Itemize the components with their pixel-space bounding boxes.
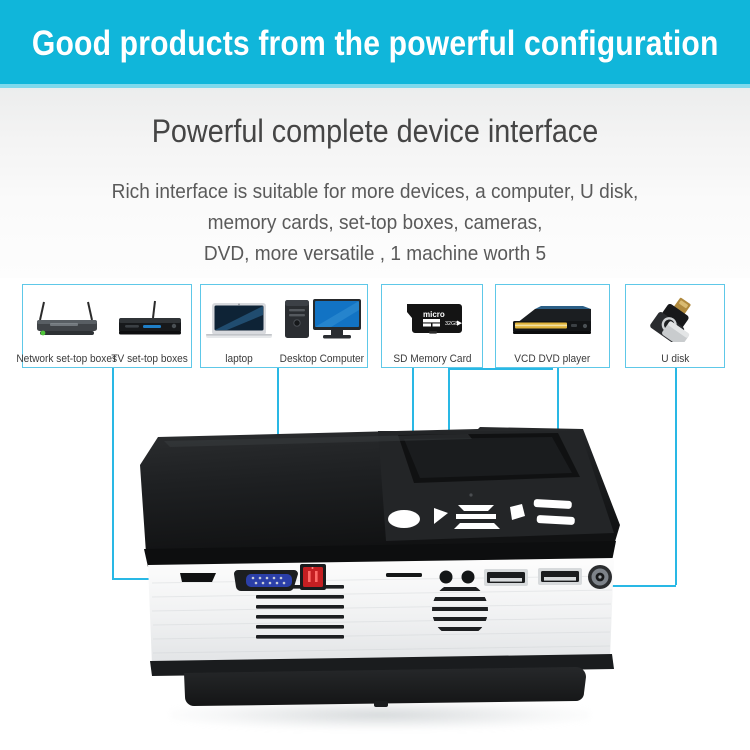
laptop-icon <box>203 285 275 353</box>
svg-text:micro: micro <box>423 310 445 319</box>
device-label: laptop <box>225 353 253 367</box>
set-top-box-icon <box>112 285 188 353</box>
subcopy-line-1: Rich interface is suitable for more devi… <box>26 176 724 207</box>
desktop-computer-icon <box>279 285 365 353</box>
device-label: U disk <box>661 353 689 367</box>
connector-line-u-disk-v <box>675 368 677 585</box>
subcopy-block: Rich interface is suitable for more devi… <box>26 176 724 269</box>
device-cell-network-set-top-box: Network set-top boxes <box>24 285 110 367</box>
device-box-u-disk[interactable]: U disk <box>625 284 725 368</box>
banner-title: Good products from the powerful configur… <box>32 24 719 64</box>
connector-line-dvd-top-h <box>448 368 553 370</box>
usb-flash-drive-icon <box>628 285 722 353</box>
device-box-row: Network set-top boxes <box>0 284 750 368</box>
device-box-memory-card[interactable]: micro 32GB SD Memory Card <box>381 284 483 368</box>
device-cell-u-disk: U disk <box>626 285 724 367</box>
device-cell-sd-memory-card: micro 32GB SD Memory Card <box>382 285 482 367</box>
infographic-page: Good products from the powerful configur… <box>0 0 750 750</box>
device-label: SD Memory Card <box>393 353 471 367</box>
device-cell-tv-set-top-box: TV set-top boxes <box>110 285 190 367</box>
microsd-card-icon: micro 32GB <box>384 285 480 353</box>
subcopy-line-3: DVD, more versatile , 1 machine worth 5 <box>26 238 724 269</box>
device-box-dvd-player[interactable]: VCD DVD player <box>495 284 610 368</box>
subcopy-line-2: memory cards, set-top boxes, cameras, <box>26 207 724 238</box>
device-box-computers[interactable]: laptop <box>200 284 368 368</box>
header-banner: Good products from the powerful configur… <box>0 0 750 88</box>
device-label: VCD DVD player <box>515 353 591 367</box>
device-cell-vcd-dvd-player: VCD DVD player <box>496 285 609 367</box>
device-cell-desktop-computer: Desktop Computer <box>277 285 367 367</box>
device-cell-laptop: laptop <box>201 285 277 367</box>
device-label: TV set-top boxes <box>112 353 189 367</box>
device-box-set-top-boxes[interactable]: Network set-top boxes <box>22 284 192 368</box>
dvd-player-icon <box>498 285 607 353</box>
router-icon <box>26 285 108 353</box>
projector-device <box>128 425 633 710</box>
connector-line-set-top-boxes-v <box>112 368 114 579</box>
page-headline: Powerful complete device interface <box>38 113 713 150</box>
device-label: Desktop Computer <box>280 353 364 367</box>
device-label: Network set-top boxes <box>17 353 118 367</box>
